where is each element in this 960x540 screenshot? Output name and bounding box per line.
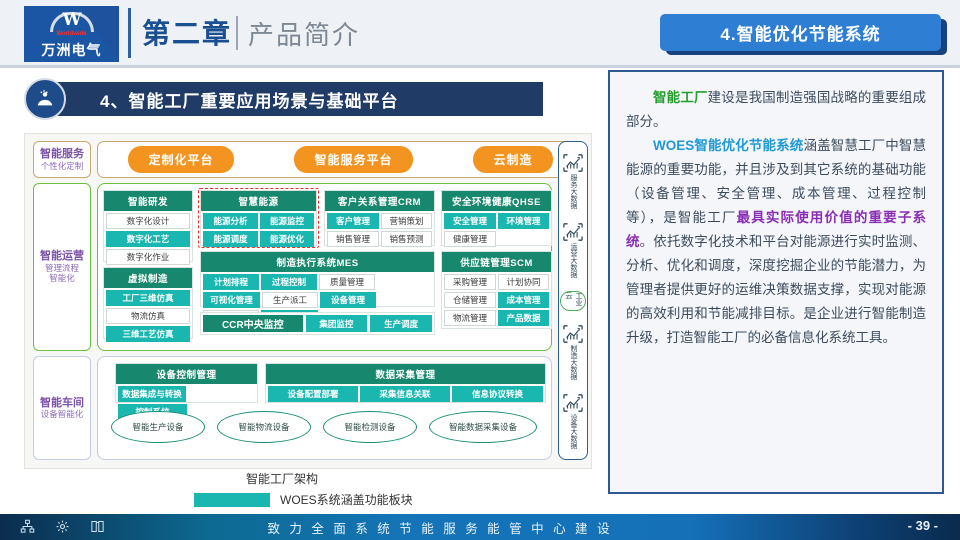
- module-cell[interactable]: 数字化工艺: [106, 231, 190, 247]
- topic-badge-body: 4.智能优化节能系统: [660, 14, 941, 51]
- legend-swatch: [194, 493, 270, 507]
- bigdata-label: 运营大数据: [568, 243, 578, 278]
- side-label-sub: 管理流程 智能化: [45, 263, 79, 283]
- topic-badge-label: 4.智能优化节能系统: [720, 20, 880, 45]
- side-label-smart-operation: 智能运营 管理流程 智能化: [33, 183, 91, 351]
- module-title: 虚拟制造: [104, 268, 192, 288]
- section-title-text: 4、智能工厂重要应用场景与基础平台: [100, 87, 398, 112]
- module-card-data-acquisition[interactable]: 数据采集管理 设备配置部署 采集信息关联 信息协议转换: [265, 363, 546, 403]
- module-title: 安全环境健康QHSE: [442, 191, 551, 211]
- module-cell[interactable]: 计划协同: [498, 274, 549, 290]
- bigdata-column: 服务大数据 运营大数据 工业云 制造大数据: [558, 141, 588, 460]
- module-title: 设备控制管理: [116, 364, 257, 384]
- bigdata-item-device[interactable]: 设备大数据: [562, 393, 584, 449]
- bigdata-label: 服务大数据: [568, 174, 578, 209]
- module-cell[interactable]: 能源监控: [260, 213, 314, 229]
- module-card-mes[interactable]: 制造执行系统MES 计划排程 过程控制 质量管理 可视化管理 生产派工 设备管理…: [200, 251, 435, 307]
- bar-chart-icon: [562, 393, 584, 413]
- module-cell[interactable]: 数字化作业: [106, 249, 190, 265]
- ccr-main-label: CCR中央监控: [203, 315, 303, 332]
- highlight-smart-factory: 智能工厂: [653, 90, 708, 105]
- logo-company-name: 万洲电气: [24, 40, 119, 60]
- module-cell[interactable]: 质量管理: [319, 274, 375, 290]
- module-cell[interactable]: 产品数据: [498, 310, 549, 326]
- device-ellipse-production[interactable]: 智能生产设备: [111, 411, 205, 443]
- module-cell-empty: [498, 231, 549, 247]
- module-cell[interactable]: 三维工艺仿真: [106, 326, 190, 342]
- smart-factory-architecture-diagram: 智能服务 个性化定制 智能运营 管理流程 智能化 智能车间 设备智能化 定制化平…: [24, 133, 592, 469]
- chapter-subtitle: 产品简介: [248, 15, 360, 52]
- highlight-woes: WOES智能优化节能系统: [653, 138, 803, 153]
- module-cell[interactable]: 采购管理: [444, 274, 496, 290]
- hand-gear-icon: [24, 78, 66, 120]
- module-cell[interactable]: 设备管理: [320, 292, 376, 308]
- logo-mark-letter: W: [24, 10, 119, 30]
- platform-chip-custom[interactable]: 定制化平台: [128, 146, 233, 173]
- paragraph-2-rest: 。依托数字化技术和平台对能源进行实时监测、分析、优化和调度，深度挖掘企业的节能潜…: [626, 234, 926, 345]
- side-label-title: 智能运营: [40, 250, 84, 263]
- ccr-cell[interactable]: 集团监控: [306, 315, 368, 332]
- module-cell[interactable]: 设备配置部署: [268, 386, 358, 402]
- module-cell[interactable]: 工厂三维仿真: [106, 290, 190, 306]
- module-title: 数据采集管理: [266, 364, 545, 384]
- ccr-central-monitor-bar[interactable]: CCR中央监控 集团监控 生产调度: [200, 312, 435, 335]
- module-card-device-control[interactable]: 设备控制管理 数据集成与转换 控制系统: [115, 363, 258, 403]
- module-cell[interactable]: 仓储管理: [444, 292, 496, 308]
- side-label-smart-service: 智能服务 个性化定制: [33, 141, 91, 178]
- side-label-title: 智能服务: [40, 148, 84, 161]
- logo-sub-text: Worldwide: [24, 31, 119, 37]
- module-title: 供应链管理SCM: [442, 252, 551, 272]
- cloud-label: 工业云: [563, 292, 583, 310]
- chapter-title: 第二章: [142, 12, 232, 52]
- module-cell[interactable]: 能源优化: [260, 231, 314, 247]
- platform-chip-cloud[interactable]: 云制造: [473, 146, 552, 173]
- side-label-title: 智能车间: [40, 397, 84, 410]
- company-logo: W Worldwide 万洲电气: [24, 6, 119, 62]
- bigdata-item-manufacturing[interactable]: 制造大数据: [562, 324, 584, 380]
- side-label-sub: 设备智能化: [41, 409, 84, 419]
- module-cell[interactable]: 销售预测: [381, 231, 432, 247]
- module-card-virtual-mfg[interactable]: 虚拟制造 工厂三维仿真 物流仿真 三维工艺仿真: [103, 267, 193, 339]
- module-title: 客户关系管理CRM: [325, 191, 434, 211]
- ccr-cell[interactable]: 生产调度: [370, 315, 432, 332]
- module-cell[interactable]: 数据集成与转换: [118, 386, 186, 402]
- module-cell[interactable]: 信息协议转换: [452, 386, 543, 402]
- module-cell[interactable]: 可视化管理: [203, 292, 260, 308]
- module-cell[interactable]: 生产派工: [262, 292, 318, 308]
- module-cell[interactable]: 物流管理: [444, 310, 496, 326]
- topic-badge: 4.智能优化节能系统: [660, 14, 947, 55]
- bigdata-label: 制造大数据: [568, 345, 578, 380]
- header-divider: [128, 8, 131, 58]
- device-ellipse-logistics[interactable]: 智能物流设备: [217, 411, 311, 443]
- module-cell[interactable]: 过程控制: [261, 274, 317, 290]
- module-cell[interactable]: 安全管理: [444, 213, 496, 229]
- module-card-scm[interactable]: 供应链管理SCM 采购管理 计划协同 仓储管理 成本管理 物流管理 产品数据: [441, 251, 552, 329]
- section-title-bar: 4、智能工厂重要应用场景与基础平台: [50, 82, 543, 116]
- device-ellipse-data-collect[interactable]: 智能数据采集设备: [429, 411, 537, 443]
- bigdata-item-service[interactable]: 服务大数据: [562, 153, 584, 209]
- module-title: 制造执行系统MES: [201, 252, 434, 272]
- side-label-sub: 个性化定制: [41, 161, 84, 171]
- diagram-caption: 智能工厂架构: [246, 470, 318, 487]
- page-number: - 39 -: [908, 518, 938, 533]
- module-card-crm[interactable]: 客户关系管理CRM 客户管理 营销策划 销售管理 销售预测: [324, 190, 435, 246]
- side-label-smart-workshop: 智能车间 设备智能化: [33, 356, 91, 460]
- description-paragraph-1: 智能工厂建设是我国制造强国战略的重要组成部分。: [626, 86, 926, 134]
- module-card-rd[interactable]: 智能研发 数字化设计 数字化工艺 数字化作业: [103, 190, 193, 262]
- module-cell[interactable]: 计划排程: [203, 274, 259, 290]
- description-panel: 智能工厂建设是我国制造强国战略的重要组成部分。 WOES智能优化节能系统涵盖智慧…: [608, 70, 944, 494]
- module-title: 智慧能源: [201, 191, 316, 211]
- module-cell[interactable]: 物流仿真: [106, 308, 190, 324]
- module-cell[interactable]: 能源调度: [203, 231, 258, 247]
- description-paragraph-2: WOES智能优化节能系统涵盖智慧工厂中智慧能源的重要功能，并且涉及到其它系统的基…: [626, 134, 926, 350]
- module-cell[interactable]: 客户管理: [327, 213, 379, 229]
- module-card-qhse[interactable]: 安全环境健康QHSE 安全管理 环境管理 健康管理: [441, 190, 552, 246]
- module-cell[interactable]: 销售管理: [327, 231, 379, 247]
- legend-label: WOES系统涵盖功能板块: [280, 491, 413, 508]
- bigdata-item-operation[interactable]: 运营大数据: [562, 222, 584, 278]
- cloud-icon[interactable]: 工业云: [560, 291, 586, 311]
- diagram-legend: WOES系统涵盖功能板块: [194, 491, 413, 508]
- bar-chart-icon: [562, 153, 584, 173]
- module-cell[interactable]: 环境管理: [498, 213, 549, 229]
- module-card-smart-energy[interactable]: 智慧能源 能源分析 能源监控 能源调度 能源优化: [200, 190, 317, 246]
- module-cell[interactable]: 采集信息关联: [360, 386, 450, 402]
- module-cell[interactable]: 健康管理: [444, 231, 496, 247]
- bar-chart-icon: [562, 222, 584, 242]
- module-cell[interactable]: 成本管理: [498, 292, 549, 308]
- bigdata-label: 设备大数据: [568, 414, 578, 449]
- bar-chart-icon: [562, 324, 584, 344]
- footer-slogan: 致 力 全 面 系 统 节 能 服 务 能 管 中 心 建 设: [0, 518, 880, 537]
- module-title: 智能研发: [104, 191, 192, 211]
- module-cell[interactable]: 数字化设计: [106, 213, 190, 229]
- platform-chip-service[interactable]: 智能服务平台: [294, 146, 412, 173]
- device-ellipse-inspection[interactable]: 智能检测设备: [323, 411, 417, 443]
- module-cell[interactable]: 能源分析: [203, 213, 258, 229]
- header-vertical-rule: [236, 16, 238, 50]
- module-cell[interactable]: 营销策划: [381, 213, 432, 229]
- platform-row: 定制化平台 智能服务平台 云制造: [97, 141, 584, 178]
